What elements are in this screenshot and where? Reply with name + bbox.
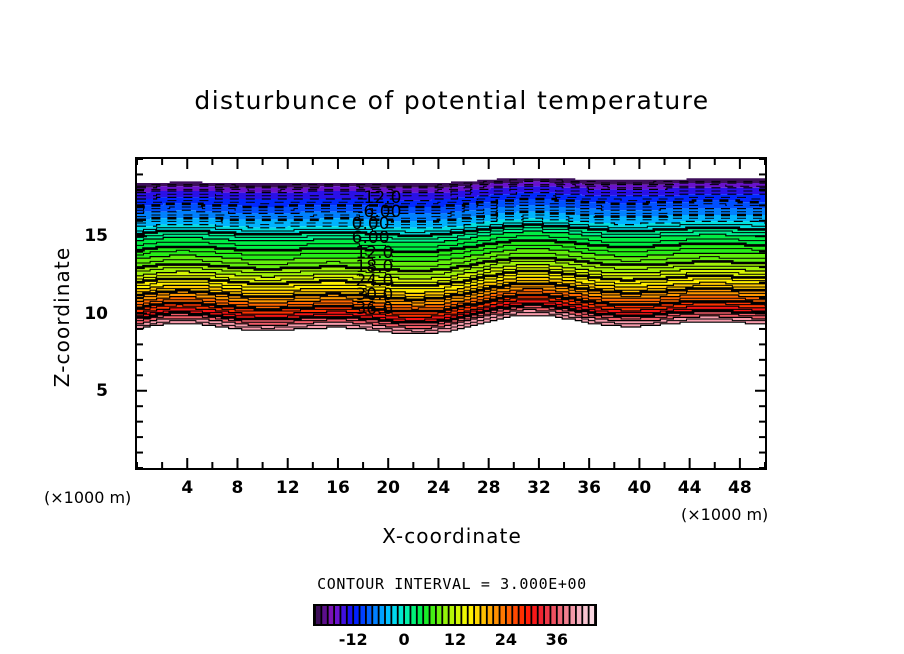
x-tick-label: 24	[427, 478, 451, 498]
y-axis-unit-label: (×1000 m)	[44, 488, 131, 507]
colorbar-cell	[507, 606, 512, 624]
colorbar-cell	[430, 606, 435, 624]
colorbar-cell	[558, 606, 563, 624]
contour-field	[137, 159, 765, 468]
y-tick-label: 10	[0, 304, 108, 324]
colorbar-cell	[405, 606, 410, 624]
page-title: disturbunce of potential temperature	[0, 86, 904, 115]
x-tick-label: 28	[477, 478, 501, 498]
colorbar-cell	[583, 606, 588, 624]
x-axis-title: X-coordinate	[0, 524, 904, 548]
colorbar-cell	[411, 606, 416, 624]
x-tick-label: 36	[577, 478, 601, 498]
colorbar-cell	[392, 606, 397, 624]
colorbar-cell	[360, 606, 365, 624]
colorbar-cell	[475, 606, 480, 624]
y-tick-label: 15	[0, 226, 108, 246]
contour-label: 36.0	[355, 299, 393, 319]
x-tick-label: 16	[326, 478, 350, 498]
colorbar-cell	[469, 606, 474, 624]
colorbar-cell	[367, 606, 372, 624]
colorbar-cell	[590, 606, 595, 624]
colorbar-cell	[570, 606, 575, 624]
colorbar-cell	[418, 606, 423, 624]
colorbar-cell	[348, 606, 353, 624]
figure-canvas: disturbunce of potential temperature Z-c…	[0, 0, 904, 654]
x-tick-label: 12	[276, 478, 300, 498]
colorbar-cell	[386, 606, 391, 624]
x-tick-label: 40	[628, 478, 652, 498]
colorbar-cell	[380, 606, 385, 624]
colorbar-cell	[551, 606, 556, 624]
x-tick-label: 8	[232, 478, 244, 498]
colorbar-cell	[335, 606, 340, 624]
colorbar-tick-label: 12	[444, 630, 466, 649]
colorbar-tick-label: 0	[399, 630, 410, 649]
colorbar-cell	[532, 606, 537, 624]
colorbar-cell	[341, 606, 346, 624]
colorbar-tick-label: 36	[546, 630, 568, 649]
colorbar	[313, 604, 597, 626]
colorbar-cell	[564, 606, 569, 624]
x-tick-label: 32	[527, 478, 551, 498]
colorbar-tick-label: -12	[339, 630, 368, 649]
contour-plot-area	[135, 157, 767, 470]
colorbar-cell	[520, 606, 525, 624]
colorbar-cell	[488, 606, 493, 624]
colorbar-cell	[424, 606, 429, 624]
colorbar-tick-label: 24	[495, 630, 517, 649]
colorbar-cell	[329, 606, 334, 624]
x-tick-label: 4	[181, 478, 193, 498]
colorbar-cell	[577, 606, 582, 624]
colorbar-cell	[526, 606, 531, 624]
y-tick-label: 5	[0, 381, 108, 401]
colorbar-cell	[373, 606, 378, 624]
colorbar-cell	[437, 606, 442, 624]
x-tick-label: 44	[678, 478, 702, 498]
colorbar-cell	[494, 606, 499, 624]
colorbar-swatches	[315, 606, 595, 624]
colorbar-cell	[316, 606, 321, 624]
colorbar-cell	[456, 606, 461, 624]
colorbar-cell	[462, 606, 467, 624]
colorbar-cell	[539, 606, 544, 624]
x-tick-label: 48	[728, 478, 752, 498]
colorbar-cell	[500, 606, 505, 624]
colorbar-cell	[443, 606, 448, 624]
colorbar-cell	[399, 606, 404, 624]
colorbar-cell	[481, 606, 486, 624]
colorbar-cell	[322, 606, 327, 624]
colorbar-cell	[513, 606, 518, 624]
contour-interval-caption: CONTOUR INTERVAL = 3.000E+00	[0, 575, 904, 593]
colorbar-cell	[545, 606, 550, 624]
colorbar-cell	[450, 606, 455, 624]
colorbar-cell	[354, 606, 359, 624]
x-axis-unit-label: (×1000 m)	[681, 505, 768, 524]
x-tick-label: 20	[376, 478, 400, 498]
